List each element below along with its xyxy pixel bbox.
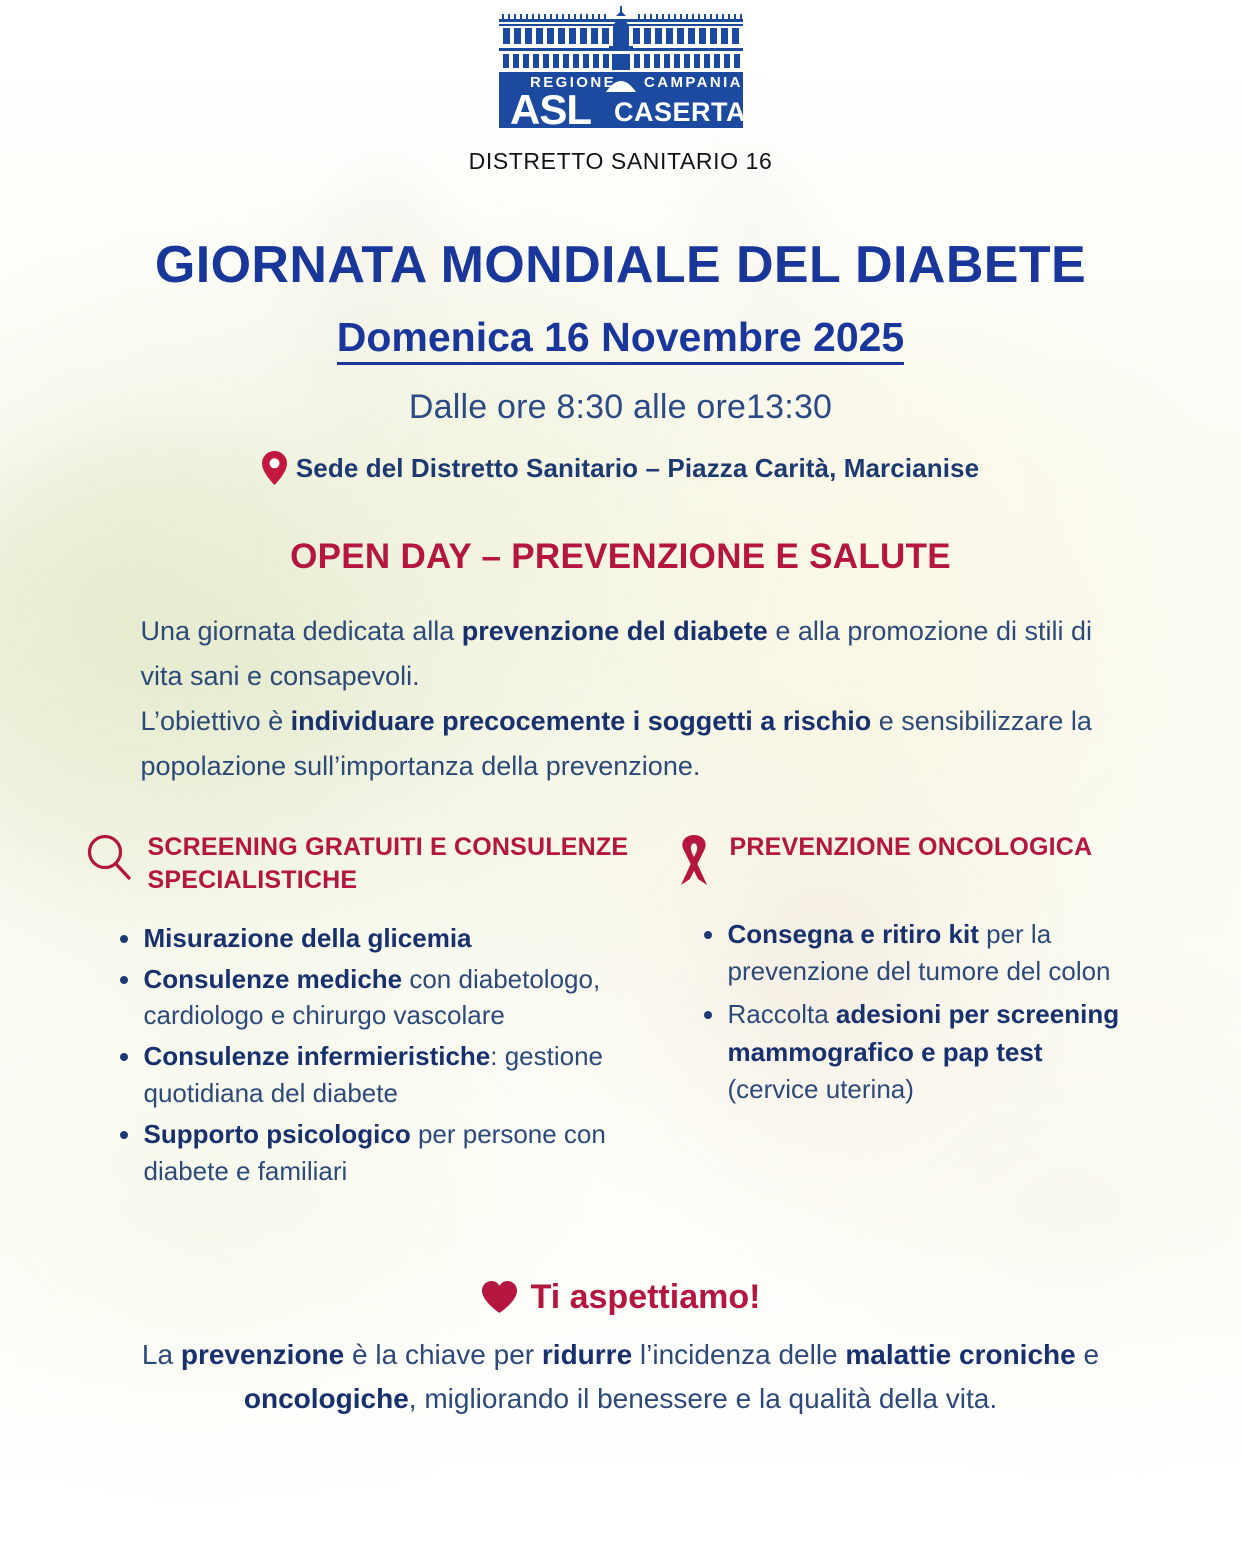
logo-campania-text: CAMPANIA [644, 74, 743, 91]
event-time: Dalle ore 8:30 alle ore13:30 [0, 388, 1241, 427]
column-screening-header: SCREENING GRATUITI E CONSULENZE SPECIALI… [86, 831, 652, 898]
closing-h: oncologiche [244, 1383, 409, 1414]
column-screening-title: SCREENING GRATUITI E CONSULENZE SPECIALI… [148, 831, 652, 898]
closing-d: ridurre [542, 1339, 632, 1370]
closing-e: l’incidenza delle [632, 1339, 845, 1370]
reggia-building-icon [499, 6, 743, 70]
page-title: GIORNATA MONDIALE DEL DIABETE [0, 237, 1241, 293]
logo-caserta-text: CASERTA [614, 97, 746, 127]
event-date: Domenica 16 Novembre 2025 [0, 313, 1241, 362]
item-bold: Consulenze infermieristiche [144, 1041, 491, 1071]
list-item: Raccolta adesioni per screening mammogra… [698, 996, 1136, 1108]
intro-line-2: L’obiettivo è individuare precocemente i… [141, 699, 1101, 789]
intro-paragraph: Una giornata dedicata alla prevenzione d… [141, 609, 1101, 788]
intro-p2a: L’obiettivo è [141, 706, 291, 736]
asl-caserta-logo-mark: REGIONE CAMPANIA ASL CASERTA [466, 6, 776, 146]
item-bold: Misurazione della glicemia [144, 923, 472, 953]
intro-p1b: prevenzione del diabete [462, 616, 768, 646]
event-location-text: Sede del Distretto Sanitario – Piazza Ca… [296, 453, 979, 484]
heart-icon [481, 1280, 518, 1314]
oncology-list: Consegna e ritiro kit per la prevenzione… [674, 916, 1136, 1109]
closing-a: La [142, 1339, 181, 1370]
closing-block: Ti aspettiamo! La prevenzione è la chiav… [121, 1278, 1121, 1420]
list-item: Supporto psicologico per persone con dia… [114, 1116, 652, 1190]
page-subtitle: OPEN DAY – PREVENZIONE E SALUTE [0, 537, 1241, 577]
intro-p2b: individuare precocemente i soggetti a ri… [291, 706, 872, 736]
poster-page: REGIONE CAMPANIA ASL CASERTA DISTRETTO S… [0, 0, 1241, 1551]
column-oncology-title: PREVENZIONE ONCOLOGICA [730, 831, 1093, 865]
closing-b: prevenzione [181, 1339, 344, 1370]
event-date-text: Domenica 16 Novembre 2025 [337, 314, 904, 365]
event-location: Sede del Distretto Sanitario – Piazza Ca… [0, 451, 1241, 485]
closing-c: è la chiave per [344, 1339, 542, 1370]
item-pre: Raccolta [728, 999, 836, 1029]
column-oncology: PREVENZIONE ONCOLOGICA Consegna e ritiro… [674, 831, 1136, 1115]
closing-title-text: Ti aspettiamo! [531, 1278, 761, 1317]
closing-i: , migliorando il benessere e la qualità … [409, 1383, 997, 1414]
closing-f: malattie croniche [845, 1339, 1075, 1370]
item-rest: (cervice uterina) [728, 1074, 914, 1104]
item-bold: Consegna e ritiro kit [728, 919, 979, 949]
closing-body: La prevenzione è la chiave per ridurre l… [121, 1333, 1121, 1420]
location-pin-icon [262, 451, 287, 485]
asl-caserta-logo: REGIONE CAMPANIA ASL CASERTA DISTRETTO S… [0, 0, 1241, 175]
closing-title: Ti aspettiamo! [121, 1278, 1121, 1317]
list-item: Consegna e ritiro kit per la prevenzione… [698, 916, 1136, 991]
awareness-ribbon-icon [674, 831, 714, 894]
list-item: Consulenze mediche con diabetologo, card… [114, 961, 652, 1035]
magnifier-icon [86, 831, 132, 886]
column-screening: SCREENING GRATUITI E CONSULENZE SPECIALI… [86, 831, 652, 1194]
intro-p1a: Una giornata dedicata alla [141, 616, 462, 646]
column-oncology-header: PREVENZIONE ONCOLOGICA [674, 831, 1136, 894]
logo-asl-text: ASL [510, 86, 591, 133]
item-bold: Supporto psicologico [144, 1119, 411, 1149]
list-item: Misurazione della glicemia [114, 920, 652, 957]
intro-line-1: Una giornata dedicata alla prevenzione d… [141, 609, 1101, 699]
screening-list: Misurazione della glicemia Consulenze me… [86, 920, 652, 1190]
closing-g: e [1076, 1339, 1099, 1370]
item-bold: Consulenze mediche [144, 964, 403, 994]
services-columns: SCREENING GRATUITI E CONSULENZE SPECIALI… [86, 831, 1156, 1194]
list-item: Consulenze infermieristiche: gestione qu… [114, 1038, 652, 1112]
logo-caption: DISTRETTO SANITARIO 16 [469, 148, 773, 175]
